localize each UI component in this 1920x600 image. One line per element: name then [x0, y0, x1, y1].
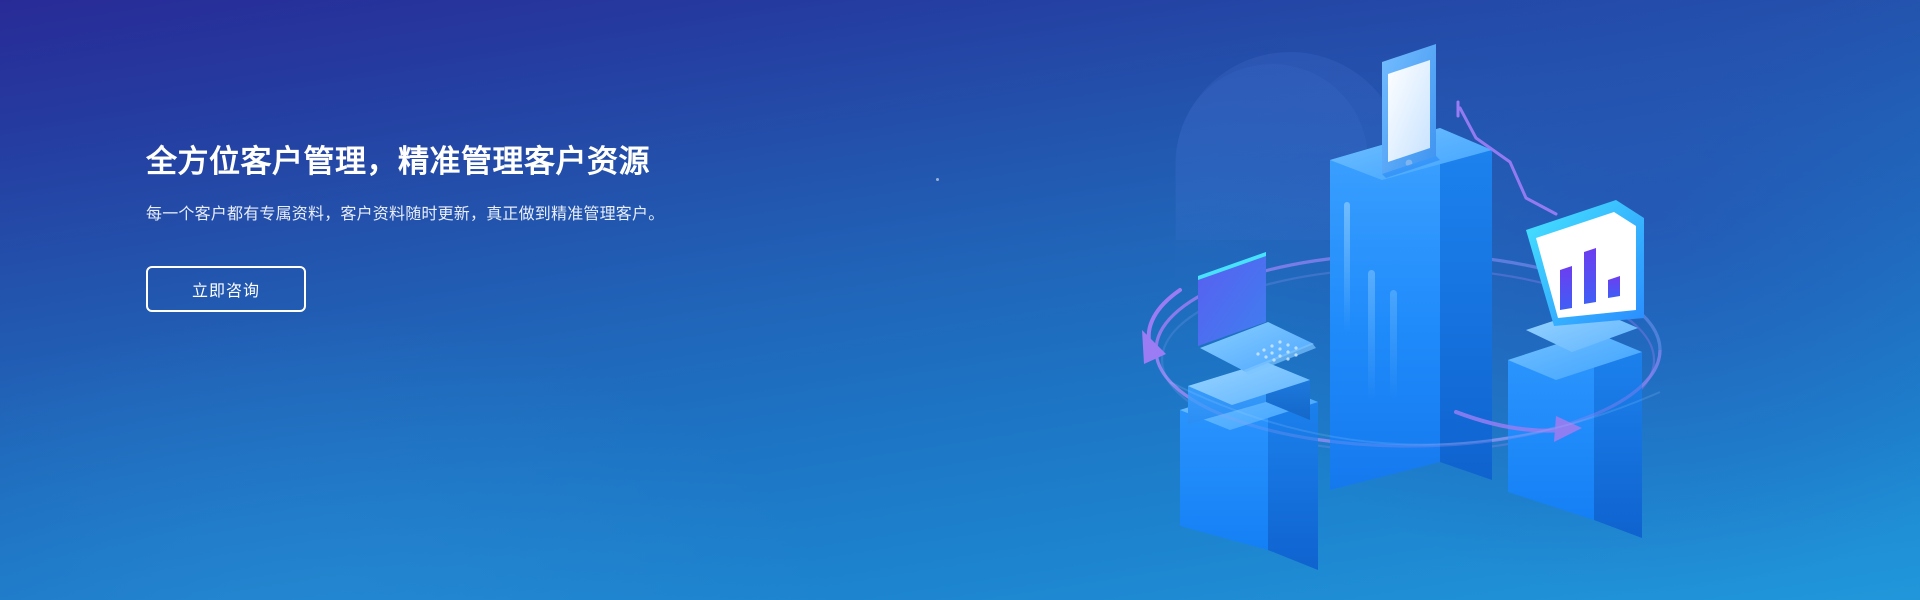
isometric-devices-illustration [1140, 30, 1700, 570]
center-pillar-highlight-3 [1390, 290, 1397, 400]
monitor-chart-bar-1 [1560, 266, 1572, 310]
right-pillar-group [1508, 196, 1644, 538]
left-pillar-group [1180, 252, 1318, 570]
hero-illustration [1140, 30, 1700, 570]
consult-now-button[interactable]: 立即咨询 [146, 266, 306, 312]
tablet-screen [1388, 60, 1430, 162]
hero-copy-block: 全方位客户管理，精准管理客户资源 每一个客户都有专属资料，客户资料随时更新，真正… [146, 140, 786, 312]
monitor-chart-bar-2 [1584, 248, 1596, 304]
hero-subcopy: 每一个客户都有专属资料，客户资料随时更新，真正做到精准管理客户。 [146, 202, 736, 228]
background-glow-lower-left [0, 300, 860, 600]
page-title: 全方位客户管理，精准管理客户资源 [146, 140, 786, 184]
center-pillar-highlight-1 [1344, 202, 1350, 332]
center-pillar-highlight-2 [1368, 270, 1375, 400]
center-pillar-side-face [1440, 128, 1492, 480]
hero-banner: 全方位客户管理，精准管理客户资源 每一个客户都有专属资料，客户资料随时更新，真正… [0, 0, 1920, 600]
orbit-arrow-left-tail [1149, 290, 1180, 346]
sparkle-dot-icon [936, 178, 939, 181]
